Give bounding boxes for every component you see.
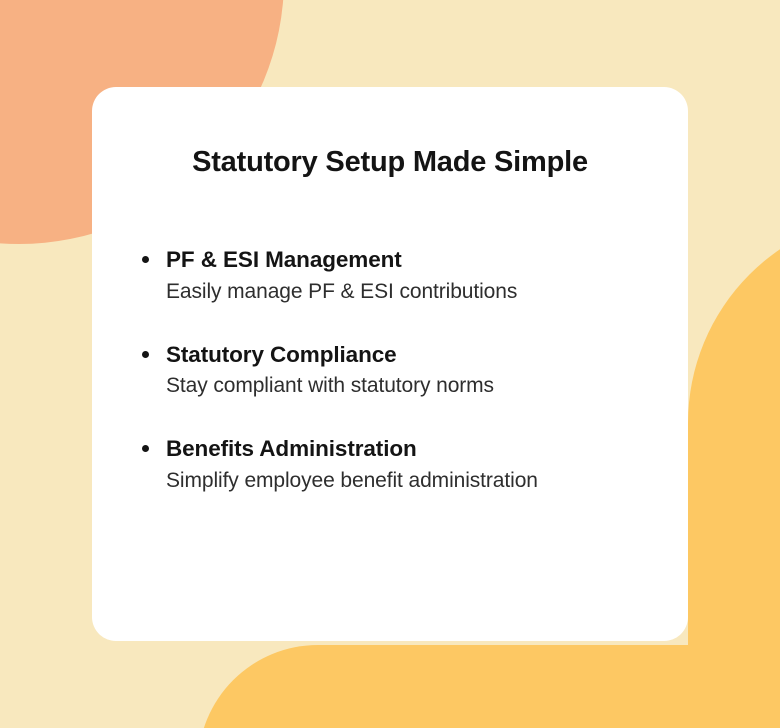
- feature-list: PF & ESI Management Easily manage PF & E…: [142, 246, 678, 495]
- amber-blob-bottom-decoration: [198, 645, 780, 728]
- feature-description: Simplify employee benefit administration: [166, 467, 678, 495]
- feature-description: Easily manage PF & ESI contributions: [166, 278, 678, 306]
- bullet-dot-icon: [142, 445, 149, 452]
- page-title: Statutory Setup Made Simple: [92, 145, 688, 180]
- feature-title: Benefits Administration: [166, 435, 678, 464]
- list-item: PF & ESI Management Easily manage PF & E…: [142, 246, 678, 306]
- content-card: Statutory Setup Made Simple PF & ESI Man…: [92, 87, 688, 641]
- feature-description: Stay compliant with statutory norms: [166, 372, 678, 400]
- list-item: Benefits Administration Simplify employe…: [142, 435, 678, 495]
- feature-title: Statutory Compliance: [166, 341, 678, 370]
- amber-blob-right-decoration: [688, 213, 780, 643]
- amber-blob-joint-decoration: [688, 600, 780, 728]
- bullet-dot-icon: [142, 256, 149, 263]
- list-item: Statutory Compliance Stay compliant with…: [142, 341, 678, 401]
- slide-canvas: Statutory Setup Made Simple PF & ESI Man…: [0, 0, 780, 728]
- bullet-dot-icon: [142, 351, 149, 358]
- feature-title: PF & ESI Management: [166, 246, 678, 275]
